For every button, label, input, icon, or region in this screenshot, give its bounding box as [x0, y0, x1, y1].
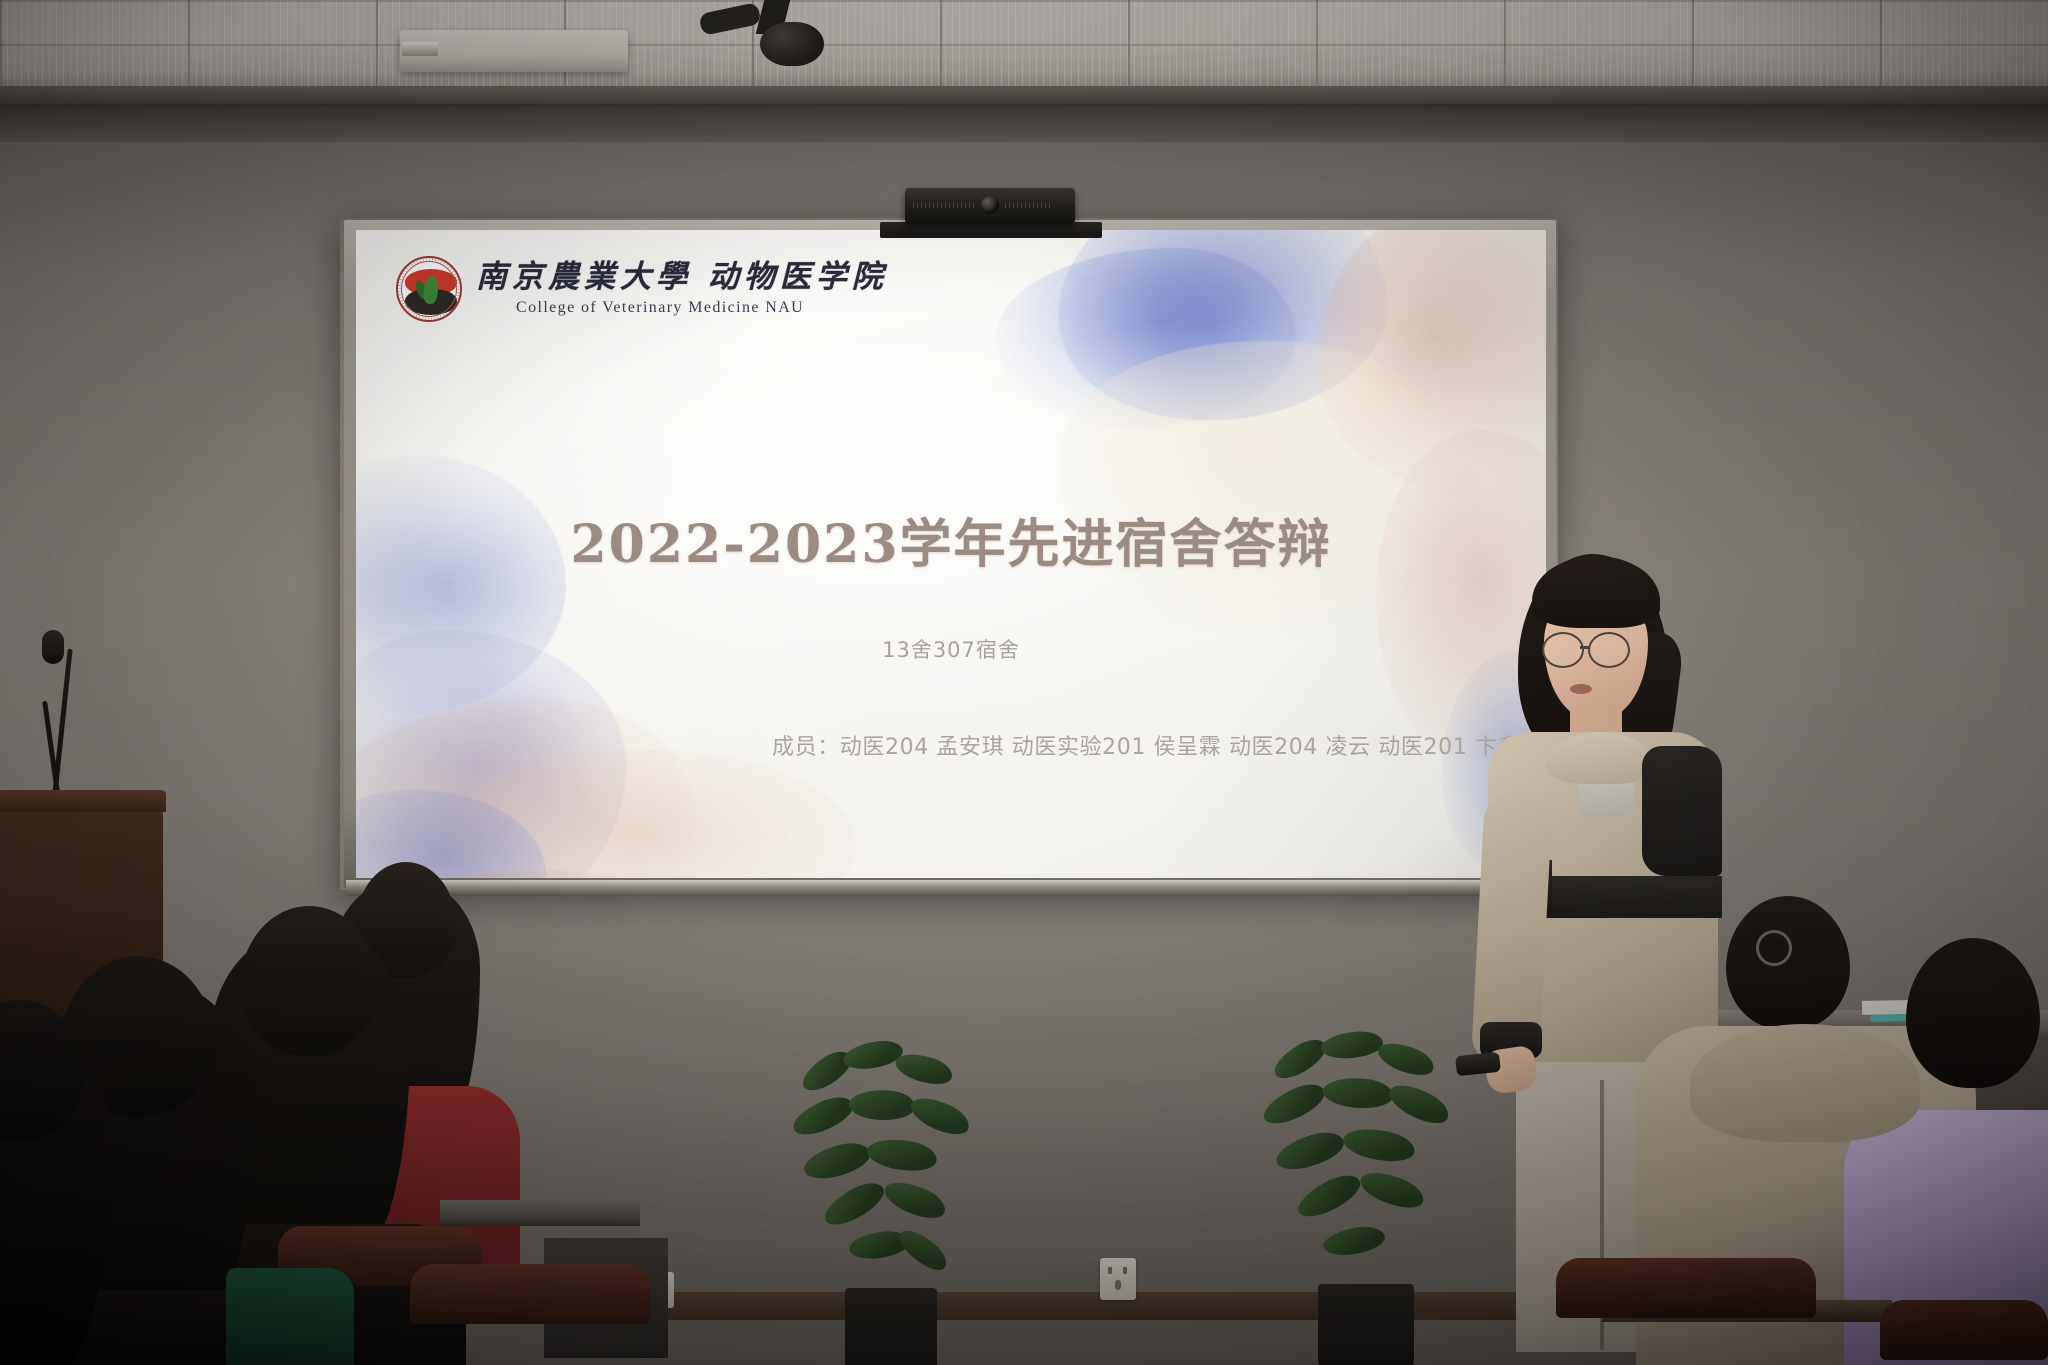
camera-speaker-grill-right	[1005, 203, 1053, 208]
watercolor-peach-top-right	[1316, 230, 1546, 500]
audience-right-head-1	[1726, 896, 1850, 1030]
plant-pot-left	[845, 1288, 937, 1365]
logo-text-block: 南京農業大學 动物医学院 College of Veterinary Medic…	[476, 262, 888, 316]
ceiling-tile-grid	[0, 0, 2048, 92]
camera-lens-icon	[981, 196, 999, 214]
projection-screen[interactable]: 南京農業大學 动物医学院 College of Veterinary Medic…	[356, 230, 1546, 878]
board-camera-mount-plate	[880, 222, 1102, 238]
board-camera-icon	[905, 188, 1075, 224]
watercolor-peach-bottom-left	[436, 750, 856, 878]
lectern-top	[0, 790, 166, 812]
watercolor-peach-left	[356, 684, 705, 878]
watercolor-blue-bottom-left	[356, 790, 546, 878]
slide-subtitle: 13舍307宿舍	[356, 634, 1546, 664]
logo-chinese-name: 南京農業大學 动物医学院	[476, 262, 888, 293]
plant-foliage-left	[791, 1040, 991, 1290]
audience-chair-left-2	[410, 1264, 650, 1324]
audience-hair-clip-icon	[1756, 930, 1792, 966]
outlet-slot-2	[1123, 1267, 1127, 1274]
presenter-jacket-black-panel	[1642, 746, 1722, 876]
slide-logo-header: 南京農業大學 动物医学院 College of Veterinary Medic…	[396, 256, 888, 322]
outlet-slot-1	[1108, 1267, 1112, 1274]
presenter-eyeglass-bridge	[1580, 646, 1590, 649]
presenter-eyeglass-right-icon	[1588, 632, 1630, 668]
slide-title: 2022-2023学年先进宿舍答辩	[356, 502, 1546, 577]
audience-head-mid-crown	[240, 906, 378, 1056]
potted-plant-right	[1256, 1032, 1476, 1365]
presenter-mouth	[1570, 684, 1592, 694]
wall-outlet-icon[interactable]	[1100, 1258, 1136, 1300]
outlet-slot-3	[1115, 1280, 1121, 1290]
ceiling-edge-trim	[0, 86, 2048, 106]
plant-pot-right	[1318, 1284, 1414, 1365]
presentation-slide: 南京農業大學 动物医学院 College of Veterinary Medic…	[356, 230, 1546, 878]
audience-right-hood	[1690, 1024, 1920, 1142]
microphone-head-icon	[42, 630, 64, 664]
watercolor-lavender-left	[356, 630, 626, 878]
plant-foliage-right	[1261, 1032, 1471, 1290]
watercolor-cream-top-right	[1041, 318, 1500, 661]
watercolor-peach-right	[1376, 430, 1546, 760]
classroom-scene: 南京農業大學 动物医学院 College of Veterinary Medic…	[0, 0, 2048, 1365]
ceiling-dome-camera-icon	[760, 22, 824, 66]
logo-english-name: College of Veterinary Medicine NAU	[516, 300, 888, 316]
slide-members-list: 成员：动医204 孟安琪 动医实验201 侯呈霖 动医204 凌云 动医201 …	[772, 730, 1543, 766]
whiteboard-marker-tray	[346, 880, 1556, 896]
ceiling-soffit-shadow	[0, 104, 2048, 142]
audience-chair-right-1	[1556, 1258, 1816, 1318]
audience-right-head-2	[1906, 938, 2040, 1088]
ceiling-projector	[400, 30, 628, 72]
audience-desk-left	[440, 1200, 640, 1226]
seal-inner-ring	[401, 261, 457, 317]
presenter-eyeglass-left-icon	[1542, 632, 1584, 668]
watercolor-blue-top-right	[1040, 230, 1402, 442]
audience-green-garment	[226, 1268, 354, 1365]
audience-chair-right-2	[1880, 1300, 2048, 1360]
ceiling	[0, 0, 2048, 92]
watercolor-blue-left	[356, 455, 566, 715]
projector-lens-icon	[402, 42, 438, 56]
university-seal-icon	[396, 256, 462, 322]
watercolor-blue-top-right-2	[996, 248, 1296, 428]
potted-plant-left	[786, 1040, 996, 1365]
camera-speaker-grill-left	[913, 203, 975, 208]
